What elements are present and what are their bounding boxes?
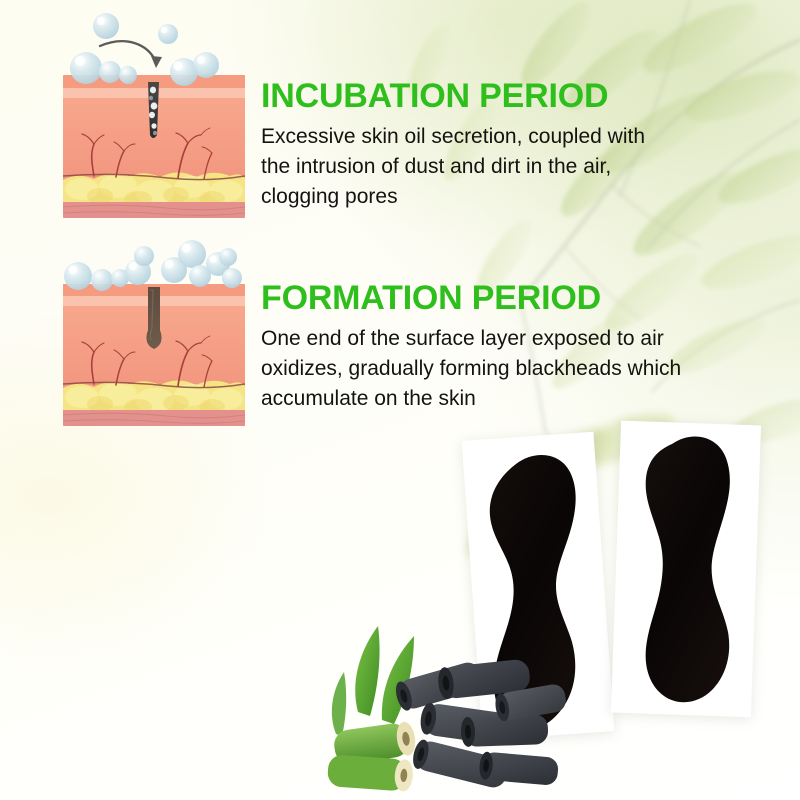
blackhead-plug xyxy=(146,287,161,349)
section-formation: FORMATION PERIOD One end of the surface … xyxy=(0,232,800,436)
nose-strip-right xyxy=(600,420,790,740)
formation-heading: FORMATION PERIOD xyxy=(261,278,721,318)
formation-body: One end of the surface layer exposed to … xyxy=(261,324,707,414)
incubation-body: Excessive skin oil secretion, coupled wi… xyxy=(261,122,661,212)
skin-cross-section-blackhead xyxy=(56,232,252,434)
infographic-page: INCUBATION PERIOD Excessive skin oil sec… xyxy=(0,0,800,800)
bubble-cluster xyxy=(64,240,242,291)
bamboo-leaves xyxy=(332,626,414,736)
skin-cross-section-clogged-pore xyxy=(56,2,252,226)
incubation-heading: INCUBATION PERIOD xyxy=(261,76,681,116)
bamboo-charcoal-group xyxy=(316,616,566,800)
formation-text-block: FORMATION PERIOD One end of the surface … xyxy=(261,278,721,414)
section-incubation: INCUBATION PERIOD Excessive skin oil sec… xyxy=(0,0,800,230)
product-photo xyxy=(300,420,800,800)
incubation-text-block: INCUBATION PERIOD Excessive skin oil sec… xyxy=(261,76,681,212)
charcoal-sticks xyxy=(393,658,566,790)
